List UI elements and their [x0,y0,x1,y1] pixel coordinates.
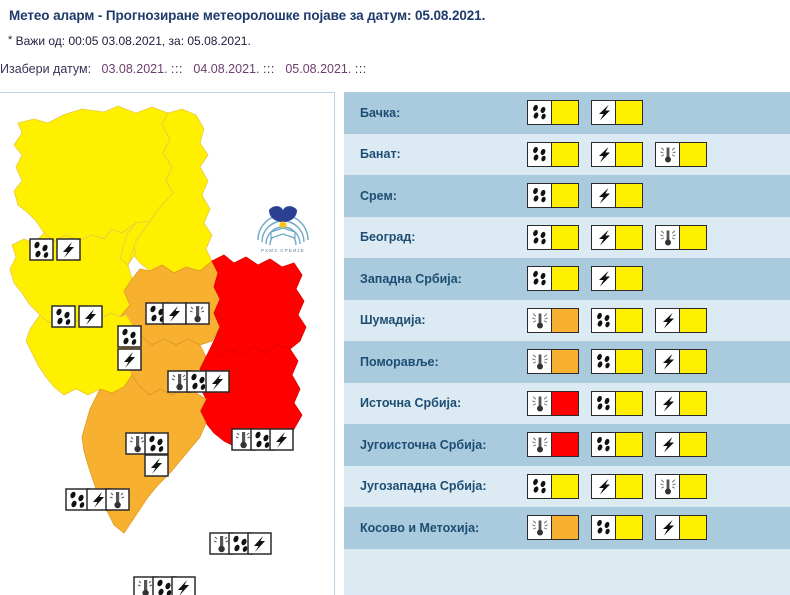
rain-icon [594,311,614,330]
thunderstorm-icon-box [656,309,680,332]
thunderstorm-icon-box [656,516,680,539]
alarm-chip-thunderstorm[interactable] [655,432,707,457]
validity-asterisk: * [8,34,12,46]
alarm-chip-thunderstorm[interactable] [591,266,643,291]
region-row[interactable]: Југозападна Србија: [344,466,790,508]
high-temperature-icon-box [656,226,680,249]
region-row[interactable]: Западна Србија: [344,258,790,300]
alarm-chip-rain[interactable] [527,225,579,250]
rain-icon [530,269,550,288]
date-separator-1: ::: [171,62,183,76]
alarm-chip-thunderstorm[interactable] [591,474,643,499]
region-row[interactable]: Југоисточна Србија: [344,424,790,466]
meteo-alarm-page: Метео аларм - Прогнозиране метеоролошке … [0,0,790,595]
date-link-1[interactable]: 03.08.2021. [102,62,168,76]
alarm-chip-rain[interactable] [527,266,579,291]
high-temperature-icon [658,145,678,164]
alarm-level-swatch [552,350,578,373]
high-temperature-icon [530,394,550,413]
region-row[interactable]: Источна Србија: [344,383,790,425]
alarm-chip-high-temperature[interactable] [527,391,579,416]
region-row[interactable]: Бачка: [344,92,790,134]
rain-icon-box [528,475,552,498]
date-selector-label: Изабери датум: [0,62,91,76]
date-separator-3: ::: [355,62,367,76]
alarm-level-swatch [616,475,642,498]
alarm-level-swatch [616,226,642,249]
thunderstorm-icon-box [592,143,616,166]
rain-icon-box [528,143,552,166]
region-name-label[interactable]: Југоисточна Србија: [360,438,486,452]
thunderstorm-icon-box [592,226,616,249]
rain-icon-box [528,184,552,207]
region-alarm-chips [527,142,707,167]
region-name-label[interactable]: Косово и Метохија: [360,521,479,535]
rain-icon [530,228,550,247]
map-region-istocna-srbija[interactable] [212,255,306,357]
map-panel[interactable]: РХМЗ СРБИЈЕ [0,92,335,595]
alarm-chip-thunderstorm[interactable] [591,225,643,250]
region-alarm-chips [527,474,707,499]
thunderstorm-icon [658,394,678,413]
page-title: Метео аларм - Прогнозиране метеоролошке … [9,8,485,23]
alarm-chip-rain[interactable] [527,142,579,167]
high-temperature-icon-box [656,143,680,166]
region-alarm-chips [527,308,707,333]
region-alarm-chips [527,515,707,540]
high-temperature-icon-box [528,309,552,332]
thunderstorm-icon [594,186,614,205]
region-name-label[interactable]: Источна Србија: [360,396,461,410]
alarm-chip-thunderstorm[interactable] [591,100,643,125]
alarm-level-swatch [680,309,706,332]
alarm-chip-high-temperature[interactable] [527,349,579,374]
alarm-chip-rain[interactable] [591,432,643,457]
thunderstorm-icon-box [656,392,680,415]
alarm-level-swatch [552,267,578,290]
thunderstorm-icon-box [592,475,616,498]
alarm-chip-thunderstorm[interactable] [655,515,707,540]
alarm-chip-thunderstorm[interactable] [591,183,643,208]
alarm-level-swatch [680,475,706,498]
alarm-level-swatch [680,143,706,166]
alarm-chip-high-temperature[interactable] [527,308,579,333]
thunderstorm-icon [594,103,614,122]
alarm-level-swatch [552,101,578,124]
alarm-level-swatch [552,143,578,166]
alarm-chip-rain[interactable] [527,474,579,499]
alarm-level-swatch [616,101,642,124]
rain-icon-box [592,350,616,373]
region-row[interactable]: Београд: [344,217,790,259]
high-temperature-icon [658,477,678,496]
region-name-label[interactable]: Банат: [360,147,401,161]
thunderstorm-icon [594,269,614,288]
region-name-label[interactable]: Бачка: [360,106,400,120]
alarm-chip-rain[interactable] [527,100,579,125]
high-temperature-icon [530,435,550,454]
alarm-level-swatch [616,516,642,539]
alarm-level-swatch [616,309,642,332]
thunderstorm-icon-box [656,350,680,373]
region-name-label[interactable]: Западна Србија: [360,272,462,286]
thunderstorm-icon-box [656,433,680,456]
region-name-label[interactable]: Поморавље: [360,355,439,369]
region-alarm-panel: Бачка:Банат:Срем:Београд:Западна Србија:… [344,92,790,595]
rain-icon-box [592,433,616,456]
alarm-level-swatch [680,392,706,415]
region-alarm-chips [527,225,707,250]
rhmz-serbia-logo: РХМЗ СРБИЈЕ [252,198,314,256]
page-header: Метео аларм - Прогнозиране метеоролошке … [0,0,790,86]
region-alarm-chips [527,349,707,374]
region-alarm-chips [527,432,707,457]
map-icons-kosovo-metohija [134,577,195,595]
rain-icon-box [592,392,616,415]
rain-icon [594,394,614,413]
high-temperature-icon [530,518,550,537]
date-selector-bar: Изабери датум: 03.08.2021. ::: 04.08.202… [0,62,367,76]
alarm-chip-high-temperature[interactable] [655,474,707,499]
alarm-level-swatch [680,350,706,373]
rain-icon-box [592,516,616,539]
high-temperature-icon-box [528,350,552,373]
alarm-chip-high-temperature[interactable] [655,142,707,167]
alarm-chip-rain[interactable] [527,183,579,208]
map-icons-istocna-srbija [232,429,293,450]
alarm-level-swatch [552,184,578,207]
date-link-3[interactable]: 05.08.2021. [285,62,351,76]
alarm-level-swatch [552,309,578,332]
alarm-level-swatch [616,267,642,290]
validity-text: Важи од: 00:05 03.08.2021, за: 05.08.202… [16,34,251,48]
alarm-level-swatch [680,226,706,249]
rain-icon [530,477,550,496]
thunderstorm-icon-box [592,184,616,207]
alarm-chip-high-temperature[interactable] [527,515,579,540]
alarm-chip-rain[interactable] [591,308,643,333]
alarm-level-swatch [680,433,706,456]
alarm-chip-thunderstorm[interactable] [655,349,707,374]
map-icons-jugozapadna-srbija [66,489,129,510]
thunderstorm-icon-box [592,267,616,290]
region-row[interactable]: Косово и Метохија: [344,507,790,549]
alarm-level-swatch [552,392,578,415]
region-alarm-chips [527,266,643,291]
alarm-chip-rain[interactable] [591,515,643,540]
region-alarm-chips [527,183,643,208]
region-row[interactable]: Шумадија: [344,300,790,342]
region-name-label[interactable]: Срем: [360,189,397,203]
map-icons-sumadija [168,371,229,392]
thunderstorm-icon [658,311,678,330]
thunderstorm-icon-box [592,101,616,124]
alarm-chip-rain[interactable] [591,391,643,416]
rain-icon-box [592,309,616,332]
map-icons-jugoistocna-srbija [210,533,271,554]
region-name-label[interactable]: Београд: [360,230,415,244]
region-name-label[interactable]: Шумадија: [360,313,426,327]
serbia-alarm-map[interactable] [0,93,335,595]
region-alarm-chips [527,100,643,125]
alarm-level-swatch [616,350,642,373]
high-temperature-icon-box [528,392,552,415]
high-temperature-icon [530,311,550,330]
alarm-chip-rain[interactable] [591,349,643,374]
rain-icon [530,103,550,122]
thunderstorm-icon [594,477,614,496]
high-temperature-icon-box [528,433,552,456]
alarm-level-swatch [616,392,642,415]
rain-icon-box [528,226,552,249]
rain-icon [594,518,614,537]
alarm-chip-high-temperature[interactable] [655,225,707,250]
region-name-label[interactable]: Југозападна Србија: [360,479,486,493]
date-link-2[interactable]: 04.08.2021. [193,62,259,76]
alarm-level-swatch [616,184,642,207]
thunderstorm-icon [594,145,614,164]
alarm-level-swatch [616,433,642,456]
alarm-level-swatch [552,475,578,498]
alarm-level-swatch [552,516,578,539]
alarm-chip-thunderstorm[interactable] [591,142,643,167]
alarm-level-swatch [680,516,706,539]
alarm-chip-high-temperature[interactable] [527,432,579,457]
region-row[interactable]: Поморавље: [344,341,790,383]
rain-icon [530,186,550,205]
map-icons-banat [146,303,209,324]
alarm-level-swatch [552,433,578,456]
alarm-chip-thunderstorm[interactable] [655,308,707,333]
region-row[interactable]: Срем: [344,175,790,217]
rain-icon-box [528,267,552,290]
rain-icon [594,352,614,371]
high-temperature-icon [658,228,678,247]
thunderstorm-icon [658,352,678,371]
panel-footnote: Кликни регион на слици или назив региона… [344,590,790,595]
validity-note: * Важи од: 00:05 03.08.2021, за: 05.08.2… [8,34,251,48]
region-row-list: Бачка:Банат:Срем:Београд:Западна Србија:… [344,92,790,549]
high-temperature-icon-box [656,475,680,498]
region-row[interactable]: Банат: [344,134,790,176]
region-alarm-chips [527,391,707,416]
rain-icon-box [528,101,552,124]
date-separator-2: ::: [263,62,275,76]
rain-icon [594,435,614,454]
logo-caption: РХМЗ СРБИЈЕ [261,248,305,253]
high-temperature-icon-box [528,516,552,539]
alarm-level-swatch [616,143,642,166]
thunderstorm-icon [658,518,678,537]
high-temperature-icon [530,352,550,371]
rain-icon [530,145,550,164]
thunderstorm-icon [658,435,678,454]
alarm-level-swatch [552,226,578,249]
alarm-chip-thunderstorm[interactable] [655,391,707,416]
thunderstorm-icon [594,228,614,247]
